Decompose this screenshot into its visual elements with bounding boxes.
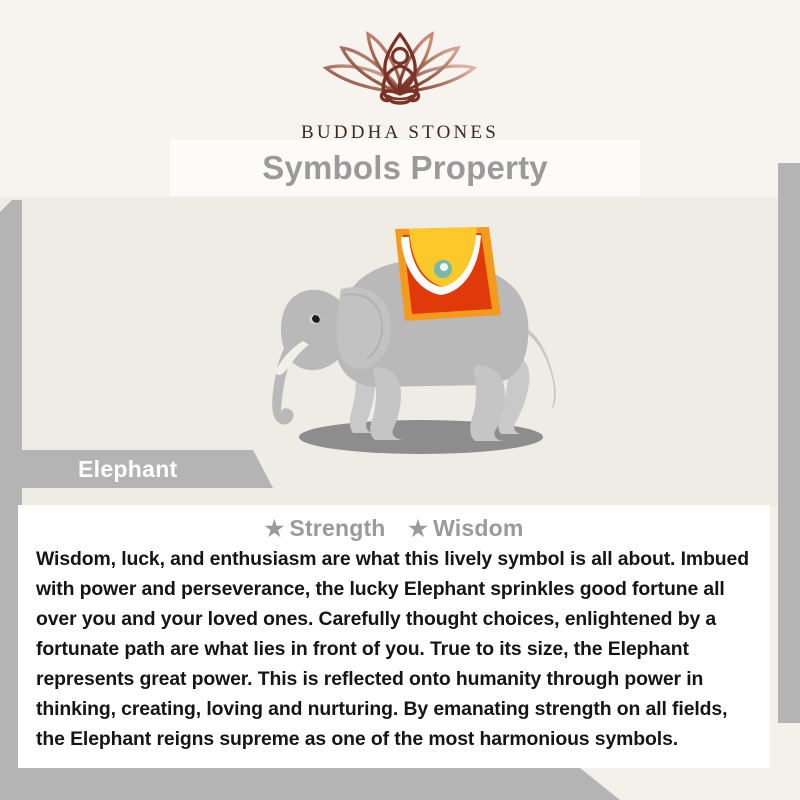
lotus-meditation-icon (300, 18, 500, 118)
attribute-label: Wisdom (433, 515, 523, 541)
symbol-description: Wisdom, luck, and enthusiasm are what th… (36, 544, 752, 754)
title-banner: Symbols Property (170, 140, 640, 196)
right-gray-rail (778, 163, 800, 723)
attribute-strength: ★Strength (264, 515, 385, 542)
star-icon: ★ (408, 516, 428, 541)
star-icon: ★ (264, 516, 284, 541)
description-card: ★Strength ★Wisdom Wisdom, luck, and enth… (18, 505, 770, 768)
bottom-accent-bar (0, 768, 620, 800)
page-title: Symbols Property (262, 149, 548, 187)
symbols-property-card: BUDDHA STONES Symbols Property (0, 0, 800, 800)
symbol-name-ribbon: Elephant (18, 450, 273, 488)
attribute-list: ★Strength ★Wisdom (18, 505, 770, 542)
attribute-wisdom: ★Wisdom (408, 515, 523, 542)
brand-logo: BUDDHA STONES (0, 18, 800, 144)
elephant-illustration (225, 215, 595, 465)
symbol-name: Elephant (78, 456, 178, 483)
attribute-label: Strength (289, 515, 385, 541)
walking-elephant-illustration (225, 215, 595, 465)
